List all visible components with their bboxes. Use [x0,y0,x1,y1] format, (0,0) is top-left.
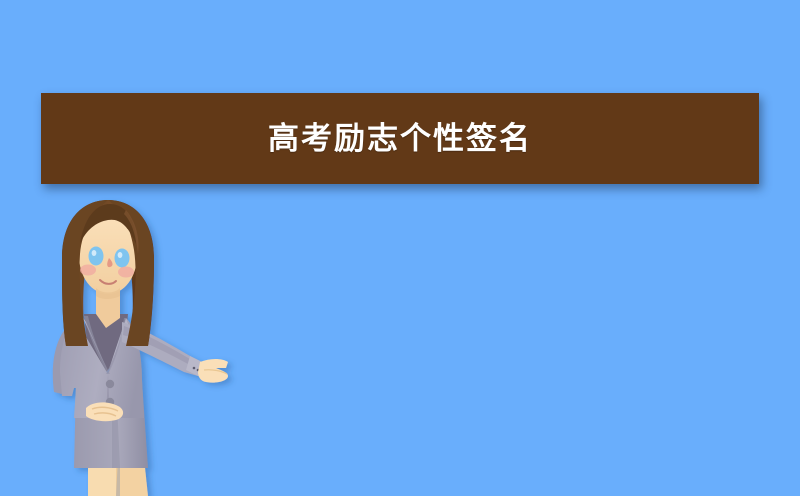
page-canvas: 高考励志个性签名 [0,0,800,496]
eye-right [115,249,130,268]
right-hand [198,359,228,383]
page-title: 高考励志个性签名 [268,123,532,154]
eye-left [89,247,104,266]
blush-right [118,267,134,278]
jacket-button-top [106,380,114,388]
woman-presenting-icon [30,196,270,496]
woman-presenting-illustration [30,196,270,496]
blush-left [80,265,96,276]
title-banner: 高考励志个性签名 [41,93,759,184]
